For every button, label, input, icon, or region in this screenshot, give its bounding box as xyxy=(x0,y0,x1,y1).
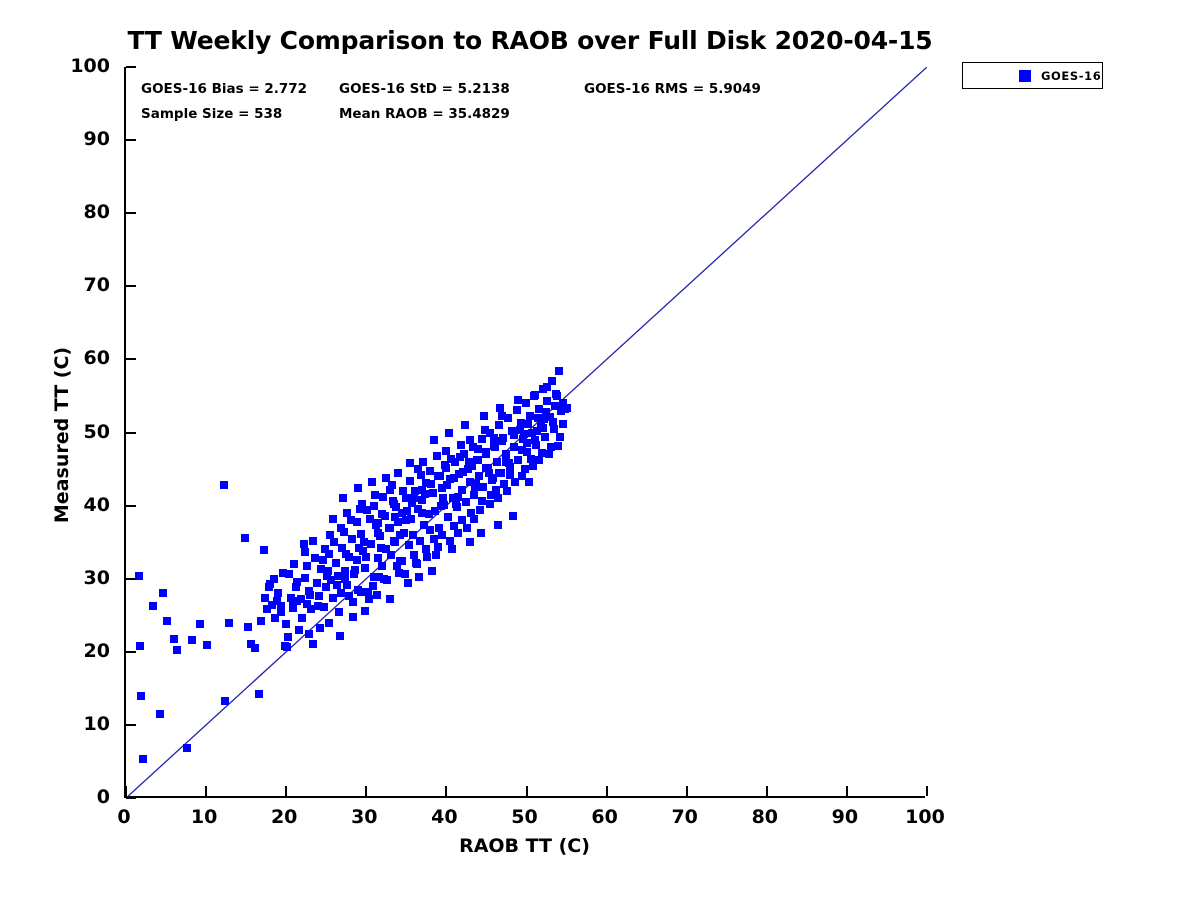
scatter-point xyxy=(391,513,399,521)
scatter-point xyxy=(402,516,410,524)
scatter-point xyxy=(271,614,279,622)
x-tick-10 xyxy=(205,786,207,796)
chart-container: TT Weekly Comparison to RAOB over Full D… xyxy=(0,0,1200,900)
scatter-point xyxy=(379,493,387,501)
scatter-point xyxy=(478,497,486,505)
scatter-point xyxy=(405,541,413,549)
scatter-point xyxy=(404,579,412,587)
scatter-point xyxy=(498,437,506,445)
scatter-point xyxy=(313,579,321,587)
scatter-point xyxy=(337,589,345,597)
y-tick-50 xyxy=(126,432,136,434)
y-tick-label-20: 20 xyxy=(44,640,110,662)
scatter-point xyxy=(241,534,249,542)
scatter-point xyxy=(261,594,269,602)
scatter-point xyxy=(495,469,503,477)
page-title: TT Weekly Comparison to RAOB over Full D… xyxy=(0,26,1060,55)
scatter-point xyxy=(450,522,458,530)
scatter-point xyxy=(422,545,430,553)
scatter-point xyxy=(326,531,334,539)
scatter-point xyxy=(514,396,522,404)
y-tick-label-100: 100 xyxy=(44,55,110,77)
scatter-point xyxy=(309,640,317,648)
y-tick-label-30: 30 xyxy=(44,567,110,589)
stat-sample-size: Sample Size = 538 xyxy=(141,106,282,122)
x-axis-label: RAOB TT (C) xyxy=(124,835,925,857)
y-tick-label-10: 10 xyxy=(44,713,110,735)
scatter-point xyxy=(387,551,395,559)
x-tick-100 xyxy=(926,786,928,796)
scatter-point xyxy=(351,566,359,574)
scatter-point xyxy=(470,491,478,499)
scatter-point xyxy=(196,620,204,628)
y-tick-label-80: 80 xyxy=(44,201,110,223)
scatter-point xyxy=(244,623,252,631)
scatter-point xyxy=(301,548,309,556)
scatter-point xyxy=(170,635,178,643)
scatter-point xyxy=(421,490,429,498)
plot-area xyxy=(124,67,925,798)
scatter-point xyxy=(543,383,551,391)
scatter-point xyxy=(513,406,521,414)
scatter-point xyxy=(361,564,369,572)
scatter-point xyxy=(458,516,466,524)
scatter-point xyxy=(503,487,511,495)
scatter-point xyxy=(463,524,471,532)
scatter-point xyxy=(446,537,454,545)
scatter-point xyxy=(500,480,508,488)
scatter-point xyxy=(342,550,350,558)
stat-mean-raob: Mean RAOB = 35.4829 xyxy=(339,106,510,122)
scatter-point xyxy=(315,592,323,600)
y-tick-30 xyxy=(126,578,136,580)
scatter-point xyxy=(398,557,406,565)
scatter-point xyxy=(149,602,157,610)
scatter-point xyxy=(456,453,464,461)
scatter-point xyxy=(559,420,567,428)
scatter-point xyxy=(355,544,363,552)
scatter-point xyxy=(321,545,329,553)
y-tick-0 xyxy=(126,797,136,799)
x-tick-30 xyxy=(365,786,367,796)
scatter-point xyxy=(492,486,500,494)
scatter-point xyxy=(518,446,526,454)
x-tick-label-20: 20 xyxy=(244,806,324,828)
scatter-point xyxy=(452,500,460,508)
scatter-point xyxy=(482,464,490,472)
scatter-point xyxy=(525,478,533,486)
scatter-point xyxy=(496,404,504,412)
scatter-point xyxy=(348,535,356,543)
x-tick-label-30: 30 xyxy=(324,806,404,828)
scatter-point xyxy=(367,540,375,548)
scatter-point xyxy=(462,498,470,506)
scatter-point xyxy=(377,544,385,552)
scatter-point xyxy=(549,418,557,426)
scatter-point xyxy=(382,474,390,482)
scatter-point xyxy=(472,480,480,488)
scatter-point xyxy=(413,560,421,568)
scatter-point xyxy=(553,392,561,400)
scatter-point xyxy=(476,506,484,514)
scatter-point xyxy=(502,450,510,458)
scatter-point xyxy=(415,573,423,581)
legend-swatch-goes-16-icon xyxy=(1019,70,1031,82)
scatter-point xyxy=(506,471,514,479)
scatter-point xyxy=(220,481,228,489)
x-tick-40 xyxy=(445,786,447,796)
scatter-point xyxy=(465,458,473,466)
legend-label-goes-16: GOES-16 xyxy=(1041,69,1101,83)
scatter-point xyxy=(509,512,517,520)
scatter-point xyxy=(480,412,488,420)
scatter-point xyxy=(323,572,331,580)
scatter-point xyxy=(466,436,474,444)
scatter-point xyxy=(443,481,451,489)
x-tick-label-40: 40 xyxy=(404,806,484,828)
scatter-point xyxy=(337,524,345,532)
stat-bias: GOES-16 Bias = 2.772 xyxy=(141,81,307,97)
y-tick-60 xyxy=(126,358,136,360)
scatter-point xyxy=(498,412,506,420)
scatter-point xyxy=(554,442,562,450)
x-tick-80 xyxy=(766,786,768,796)
scatter-point xyxy=(466,538,474,546)
scatter-point xyxy=(477,529,485,537)
scatter-point xyxy=(279,569,287,577)
scatter-point xyxy=(373,591,381,599)
scatter-point xyxy=(358,500,366,508)
scatter-point xyxy=(183,744,191,752)
scatter-point xyxy=(386,524,394,532)
scatter-point xyxy=(428,567,436,575)
scatter-point xyxy=(306,591,314,599)
scatter-point xyxy=(481,426,489,434)
scatter-point xyxy=(490,434,498,442)
scatter-point xyxy=(448,545,456,553)
x-tick-70 xyxy=(686,786,688,796)
scatter-point xyxy=(137,692,145,700)
y-tick-100 xyxy=(126,66,136,68)
scatter-point xyxy=(163,617,171,625)
scatter-point xyxy=(277,602,285,610)
scatter-point xyxy=(316,624,324,632)
scatter-point xyxy=(335,608,343,616)
scatter-point xyxy=(380,575,388,583)
scatter-point xyxy=(416,537,424,545)
scatter-point xyxy=(454,493,462,501)
x-tick-label-10: 10 xyxy=(164,806,244,828)
scatter-point xyxy=(329,515,337,523)
scatter-point xyxy=(467,509,475,517)
y-tick-20 xyxy=(126,651,136,653)
plot-canvas xyxy=(126,67,927,798)
scatter-point xyxy=(371,491,379,499)
scatter-point xyxy=(135,572,143,580)
scatter-point xyxy=(353,556,361,564)
scatter-point xyxy=(535,456,543,464)
scatter-point xyxy=(357,530,365,538)
scatter-point xyxy=(361,607,369,615)
scatter-point xyxy=(538,449,546,457)
scatter-point xyxy=(159,589,167,597)
scatter-point xyxy=(493,458,501,466)
scatter-point xyxy=(309,537,317,545)
scatter-point xyxy=(265,583,273,591)
scatter-point xyxy=(203,641,211,649)
scatter-point xyxy=(378,510,386,518)
scatter-point xyxy=(541,433,549,441)
scatter-point xyxy=(436,472,444,480)
scatter-point xyxy=(433,452,441,460)
scatter-point xyxy=(395,569,403,577)
scatter-point xyxy=(374,519,382,527)
scatter-point xyxy=(414,465,422,473)
x-tick-90 xyxy=(846,786,848,796)
scatter-point xyxy=(556,433,564,441)
scatter-point xyxy=(521,465,529,473)
scatter-point xyxy=(374,554,382,562)
x-tick-label-90: 90 xyxy=(805,806,885,828)
scatter-point xyxy=(156,710,164,718)
y-tick-label-0: 0 xyxy=(44,786,110,808)
scatter-point xyxy=(333,581,341,589)
scatter-point xyxy=(418,509,426,517)
scatter-point xyxy=(482,450,490,458)
x-tick-label-0: 0 xyxy=(84,806,164,828)
scatter-point xyxy=(365,595,373,603)
scatter-point xyxy=(434,543,442,551)
scatter-point xyxy=(349,598,357,606)
scatter-point xyxy=(486,500,494,508)
scatter-point xyxy=(284,633,292,641)
scatter-point xyxy=(426,467,434,475)
scatter-point xyxy=(305,630,313,638)
scatter-point xyxy=(408,499,416,507)
scatter-point xyxy=(461,421,469,429)
scatter-point xyxy=(353,518,361,526)
scatter-point xyxy=(290,560,298,568)
scatter-point xyxy=(530,392,538,400)
legend[interactable]: GOES-16 xyxy=(962,62,1103,89)
scatter-point xyxy=(343,509,351,517)
scatter-point xyxy=(437,502,445,510)
scatter-point xyxy=(295,626,303,634)
y-axis-label: Measured TT (C) xyxy=(51,335,73,535)
scatter-point xyxy=(378,562,386,570)
scatter-point xyxy=(293,578,301,586)
scatter-point xyxy=(559,399,567,407)
scatter-point xyxy=(454,529,462,537)
y-tick-70 xyxy=(126,285,136,287)
y-tick-10 xyxy=(126,724,136,726)
scatter-point xyxy=(136,642,144,650)
scatter-point xyxy=(479,483,487,491)
scatter-point xyxy=(432,551,440,559)
scatter-point xyxy=(319,556,327,564)
scatter-point xyxy=(311,554,319,562)
scatter-point xyxy=(301,574,309,582)
scatter-point xyxy=(502,458,510,466)
scatter-point xyxy=(406,459,414,467)
y-tick-80 xyxy=(126,212,136,214)
scatter-point xyxy=(188,636,196,644)
scatter-point xyxy=(527,455,535,463)
x-tick-label-80: 80 xyxy=(725,806,805,828)
scatter-point xyxy=(370,502,378,510)
scatter-point xyxy=(339,494,347,502)
scatter-point xyxy=(139,755,147,763)
scatter-point xyxy=(298,614,306,622)
scatter-point xyxy=(362,553,370,561)
scatter-point xyxy=(494,521,502,529)
scatter-point xyxy=(325,619,333,627)
y-tick-label-90: 90 xyxy=(44,128,110,150)
scatter-point xyxy=(423,553,431,561)
scatter-point xyxy=(426,526,434,534)
x-tick-20 xyxy=(285,786,287,796)
x-tick-50 xyxy=(526,786,528,796)
scatter-point xyxy=(255,690,263,698)
y-tick-label-70: 70 xyxy=(44,274,110,296)
scatter-point xyxy=(332,559,340,567)
scatter-point xyxy=(399,487,407,495)
scatter-point xyxy=(547,443,555,451)
scatter-point xyxy=(300,540,308,548)
scatter-point xyxy=(374,529,382,537)
scatter-point xyxy=(366,515,374,523)
x-tick-0 xyxy=(125,786,127,796)
scatter-point xyxy=(494,494,502,502)
scatter-point xyxy=(314,602,322,610)
x-tick-label-100: 100 xyxy=(885,806,965,828)
scatter-point xyxy=(533,427,541,435)
scatter-point xyxy=(392,503,400,511)
x-tick-label-50: 50 xyxy=(485,806,565,828)
scatter-point xyxy=(260,546,268,554)
scatter-point xyxy=(354,484,362,492)
x-tick-label-60: 60 xyxy=(565,806,645,828)
scatter-point xyxy=(543,397,551,405)
scatter-point xyxy=(430,436,438,444)
scatter-point xyxy=(386,486,394,494)
scatter-point xyxy=(459,468,467,476)
scatter-point xyxy=(303,562,311,570)
y-tick-90 xyxy=(126,139,136,141)
scatter-point xyxy=(457,441,465,449)
scatter-point xyxy=(406,477,414,485)
scatter-point xyxy=(368,478,376,486)
scatter-point xyxy=(524,420,532,428)
scatter-point xyxy=(441,461,449,469)
x-tick-label-70: 70 xyxy=(645,806,725,828)
scatter-point xyxy=(474,445,482,453)
scatter-point xyxy=(386,595,394,603)
scatter-point xyxy=(225,619,233,627)
scatter-point xyxy=(349,613,357,621)
scatter-point xyxy=(514,456,522,464)
scatter-point xyxy=(221,697,229,705)
scatter-point xyxy=(555,367,563,375)
scatter-point xyxy=(364,588,372,596)
scatter-point xyxy=(403,507,411,515)
scatter-point xyxy=(520,430,528,438)
scatter-point xyxy=(478,435,486,443)
scatter-point xyxy=(429,489,437,497)
y-tick-40 xyxy=(126,505,136,507)
stat-rms: GOES-16 RMS = 5.9049 xyxy=(584,81,761,97)
scatter-point xyxy=(495,421,503,429)
scatter-point xyxy=(427,480,435,488)
stat-std: GOES-16 StD = 5.2138 xyxy=(339,81,510,97)
scatter-point xyxy=(274,589,282,597)
scatter-point xyxy=(531,436,539,444)
scatter-point xyxy=(545,450,553,458)
scatter-point xyxy=(522,399,530,407)
scatter-point xyxy=(282,620,290,628)
scatter-point xyxy=(438,531,446,539)
scatter-point xyxy=(410,551,418,559)
scatter-point xyxy=(394,469,402,477)
scatter-point xyxy=(289,597,297,605)
scatter-point xyxy=(173,646,181,654)
scatter-point xyxy=(442,447,450,455)
scatter-point xyxy=(336,632,344,640)
scatter-point xyxy=(450,474,458,482)
scatter-point xyxy=(257,617,265,625)
scatter-point xyxy=(330,538,338,546)
scatter-point xyxy=(540,415,548,423)
scatter-point xyxy=(444,513,452,521)
scatter-point xyxy=(283,643,291,651)
scatter-point xyxy=(396,531,404,539)
scatter-point xyxy=(430,535,438,543)
x-tick-60 xyxy=(606,786,608,796)
scatter-point xyxy=(445,429,453,437)
scatter-point xyxy=(341,575,349,583)
scatter-point xyxy=(251,644,259,652)
